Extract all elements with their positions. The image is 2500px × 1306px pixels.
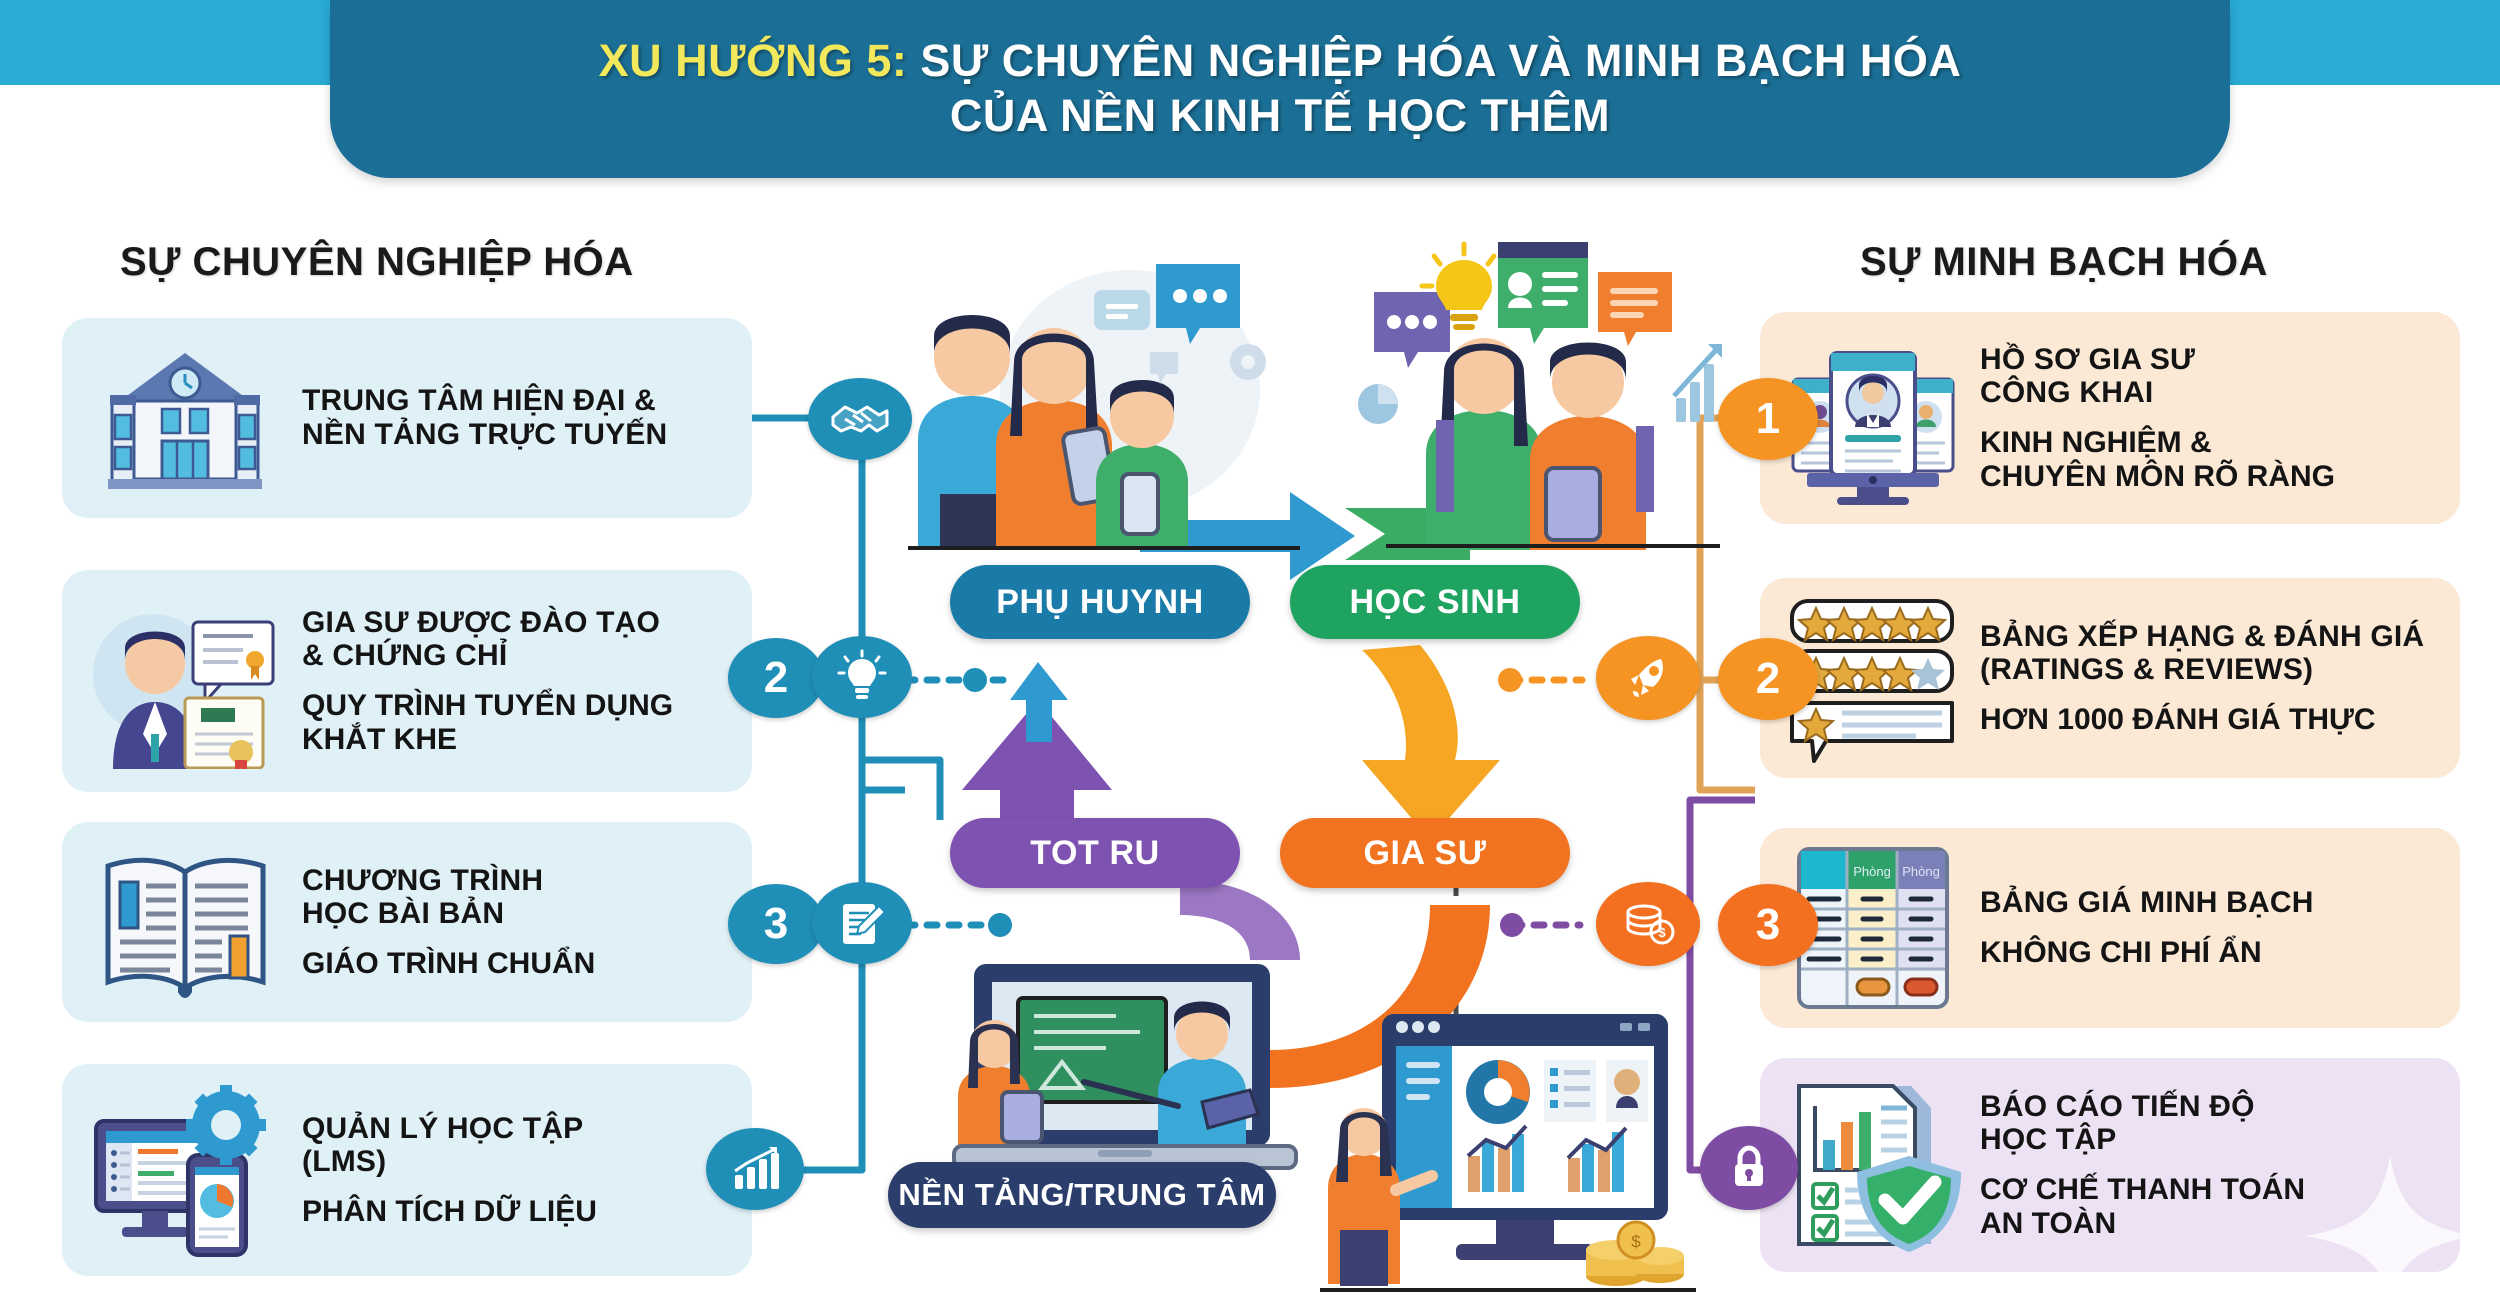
svg-text:$: $ <box>1631 1232 1641 1251</box>
right-card-3-sub-1: KHÔNG CHI PHÍ ẨN <box>1980 936 2442 970</box>
arrow-student-to-tutor <box>1362 645 1500 840</box>
right-card-2[interactable]: BẢNG XẾP HẠNG & ĐÁNH GIÁ (RATINGS & REVI… <box>1760 578 2460 778</box>
header-title-block: XU HƯỚNG 5: SỰ CHUYÊN NGHIỆP HÓA VÀ MINH… <box>330 0 2230 178</box>
school-building-icon <box>80 332 290 504</box>
price-col-header-2: Phòng <box>1902 864 1940 879</box>
header-title-line2: CỦA NỀN KINH TẾ HỌC THÊM <box>950 89 1610 144</box>
svg-text:$: $ <box>1658 925 1666 940</box>
header-title-rest: SỰ CHUYÊN NGHIỆP HÓA VÀ MINH BẠCH HÓA <box>907 35 1961 86</box>
right-card-1-line-1: HỒ SƠ GIA SƯ <box>1980 343 2442 377</box>
left-card-3[interactable]: CHƯƠNG TRÌNH HỌC BÀI BẢN GIÁO TRÌNH CHUẨ… <box>62 822 752 1022</box>
right-card-1[interactable]: HỒ SƠ GIA SƯ CÔNG KHAI KINH NGHIỆM & CHU… <box>1760 312 2460 524</box>
left-card-2-sub-2: KHẮT KHE <box>302 723 734 757</box>
connector-lock-icon[interactable] <box>1700 1126 1798 1210</box>
header-title-line1: XU HƯỚNG 5: SỰ CHUYÊN NGHIỆP HÓA VÀ MINH… <box>599 34 1962 89</box>
right-card-1-line-2: CÔNG KHAI <box>1980 376 2442 410</box>
lms-dashboard-icon <box>80 1078 290 1262</box>
left-card-4-text: QUẢN LÝ HỌC TẬP (LMS) PHÂN TÍCH DỮ LIỆU <box>290 1112 734 1229</box>
right-card-2-sub-1: HƠN 1000 ĐÁNH GIÁ THỰC <box>1980 703 2442 737</box>
connector-document-edit-icon[interactable] <box>812 882 912 964</box>
price-col-header-1: Phòng <box>1853 864 1891 879</box>
infographic-canvas: XU HƯỚNG 5: SỰ CHUYÊN NGHIỆP HÓA VÀ MINH… <box>0 0 2500 1306</box>
left-card-1-text: TRUNG TÂM HIỆN ĐẠI & NỀN TẢNG TRỰC TUYẾN <box>290 384 734 451</box>
right-card-2-text: BẢNG XẾP HẠNG & ĐÁNH GIÁ (RATINGS & REVI… <box>1968 620 2442 737</box>
pill-student[interactable]: HỌC SINH <box>1290 565 1580 639</box>
right-badge-2[interactable]: 2 <box>1718 638 1818 720</box>
connector-bar-chart-growth-icon[interactable] <box>706 1128 804 1210</box>
right-card-1-sub-2: CHUYÊN MÔN RÕ RÀNG <box>1980 460 2442 494</box>
right-card-3-line-1: BẢNG GIÁ MINH BẠCH <box>1980 886 2442 920</box>
illustration-analytics: $ <box>1320 1000 1700 1300</box>
left-badge-3[interactable]: 3 <box>728 884 824 964</box>
left-card-3-line-1: CHƯƠNG TRÌNH <box>302 864 734 898</box>
illustration-parents <box>900 250 1320 550</box>
left-badge-2[interactable]: 2 <box>728 638 824 718</box>
left-card-3-line-2: HỌC BÀI BẢN <box>302 897 734 931</box>
pill-tutor-left[interactable]: TOT RU <box>950 818 1240 888</box>
progress-report-shield-icon <box>1778 1072 1968 1258</box>
pill-parent[interactable]: PHỤ HUYNH <box>950 565 1250 639</box>
pill-tutor[interactable]: GIA SƯ <box>1280 818 1570 888</box>
swirl-purple <box>1180 880 1300 960</box>
connector-handshake-icon[interactable] <box>808 378 912 460</box>
left-card-2[interactable]: GIA SƯ ĐƯỢC ĐÀO TẠO & CHỨNG CHỈ QUY TRÌN… <box>62 570 752 792</box>
left-card-1[interactable]: TRUNG TÂM HIỆN ĐẠI & NỀN TẢNG TRỰC TUYẾN <box>62 318 752 518</box>
connector-lightbulb-icon[interactable] <box>812 636 912 718</box>
right-badge-3[interactable]: 3 <box>1718 884 1818 966</box>
right-card-1-sub-1: KINH NGHIỆM & <box>1980 426 2442 460</box>
section-title-right: SỰ MINH BẠCH HÓA <box>1860 240 2268 285</box>
left-card-4[interactable]: QUẢN LÝ HỌC TẬP (LMS) PHÂN TÍCH DỮ LIỆU <box>62 1064 752 1276</box>
left-card-2-text: GIA SƯ ĐƯỢC ĐÀO TẠO & CHỨNG CHỈ QUY TRÌN… <box>290 606 734 756</box>
certified-tutor-icon <box>80 584 290 778</box>
right-card-3[interactable]: Phòng Phòng <box>1760 828 2460 1028</box>
right-card-2-line-2: (RATINGS & REVIEWS) <box>1980 653 2442 687</box>
arrow-into-parent <box>1010 662 1068 742</box>
left-card-4-line-1: QUẢN LÝ HỌC TẬP <box>302 1112 734 1146</box>
right-card-2-line-1: BẢNG XẾP HẠNG & ĐÁNH GIÁ <box>1980 620 2442 654</box>
sparkle-decoration <box>2300 1150 2480 1306</box>
left-card-4-line-2: (LMS) <box>302 1145 734 1179</box>
left-card-4-sub-1: PHÂN TÍCH DỮ LIỆU <box>302 1195 734 1229</box>
left-card-2-line-2: & CHỨNG CHỈ <box>302 639 734 673</box>
left-card-1-line-2: NỀN TẢNG TRỰC TUYẾN <box>302 418 734 452</box>
illustration-students <box>1320 230 1740 550</box>
left-card-1-line-1: TRUNG TÂM HIỆN ĐẠI & <box>302 384 734 418</box>
left-card-2-sub-1: QUY TRÌNH TUYỂN DỤNG <box>302 689 734 723</box>
header-accent-text: XU HƯỚNG 5: <box>599 35 908 86</box>
left-card-2-line-1: GIA SƯ ĐƯỢC ĐÀO TẠO <box>302 606 734 640</box>
left-card-3-text: CHƯƠNG TRÌNH HỌC BÀI BẢN GIÁO TRÌNH CHUẨ… <box>290 864 734 981</box>
left-card-3-sub-1: GIÁO TRÌNH CHUẨN <box>302 947 734 981</box>
pill-platform[interactable]: NỀN TẢNG/TRUNG TÂM <box>888 1162 1276 1228</box>
connector-coins-icon[interactable]: $ <box>1596 882 1700 966</box>
right-card-4-line-1: BÁO CÁO TIẾN ĐỘ <box>1980 1090 2442 1124</box>
right-card-1-text: HỒ SƠ GIA SƯ CÔNG KHAI KINH NGHIỆM & CHU… <box>1968 343 2442 493</box>
right-card-3-text: BẢNG GIÁ MINH BẠCH KHÔNG CHI PHÍ ẨN <box>1968 886 2442 969</box>
connector-rocket-icon[interactable] <box>1596 636 1700 720</box>
open-book-icon <box>80 836 290 1008</box>
section-title-left: SỰ CHUYÊN NGHIỆP HÓA <box>120 240 634 285</box>
